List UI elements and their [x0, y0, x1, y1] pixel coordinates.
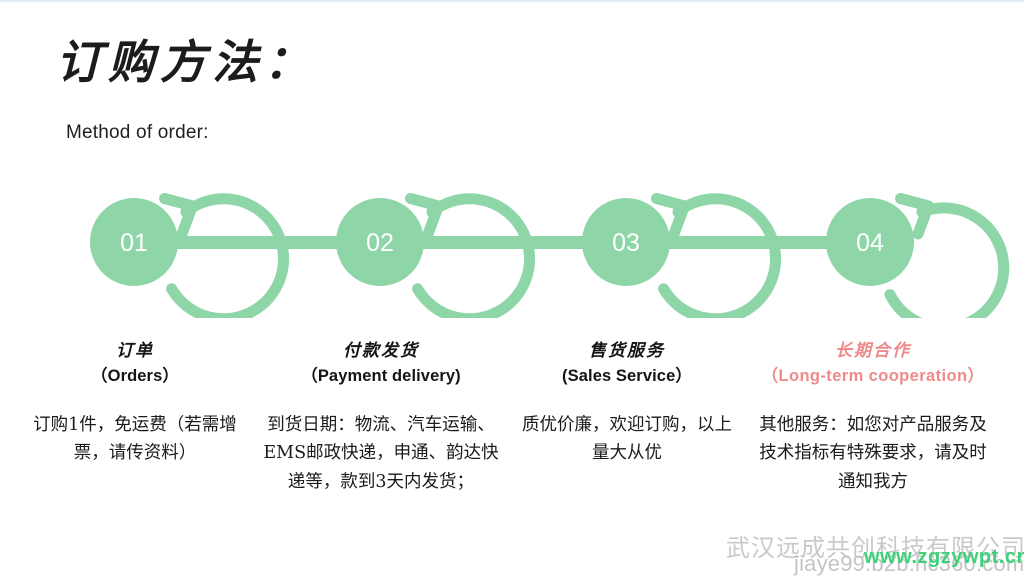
- step-node-4[interactable]: 04: [826, 198, 1004, 318]
- top-edge-line: [0, 0, 1024, 2]
- circular-arrow-icon: [657, 199, 776, 319]
- step-name-en-2: （Payment delivery): [258, 365, 504, 389]
- step-name-cn-4: 长期合作: [750, 340, 996, 363]
- step-name-en-1: （Orders）: [12, 365, 258, 389]
- step-description-1: 订购1件，免运费（若需增票，请传资料）: [12, 411, 258, 468]
- step-description-2: 到货日期：物流、汽车运输、EMS邮政快递，申通、韵达快递等，款到3天内发货；: [258, 411, 504, 496]
- step-node-1[interactable]: 01: [90, 198, 284, 318]
- page-title-en: Method of order:: [66, 122, 209, 144]
- step-description-3: 质优价廉，欢迎订购，以上量大从优: [504, 411, 750, 468]
- step-number-4: 04: [856, 229, 884, 257]
- slide-canvas: 订购方法： Method of order: 01: [0, 0, 1024, 576]
- step-node-2[interactable]: 02: [336, 198, 530, 318]
- step-name-cn-1: 订单: [12, 340, 258, 363]
- step-column-4: 长期合作 （Long-term cooperation） 其他服务：如您对产品服…: [750, 340, 996, 496]
- step-name-cn-3: 售货服务: [504, 340, 750, 363]
- step-node-3[interactable]: 03: [582, 198, 776, 318]
- step-column-2: 付款发货 （Payment delivery) 到货日期：物流、汽车运输、EMS…: [258, 340, 504, 496]
- step-number-1: 01: [120, 229, 148, 257]
- step-labels: 订单 （Orders） 订购1件，免运费（若需增票，请传资料） 付款发货 （Pa…: [0, 340, 1024, 550]
- watermark-b2b-url: jiaye99.b2b.hc360.com: [794, 551, 1024, 576]
- step-number-3: 03: [612, 229, 640, 257]
- step-name-en-3: (Sales Service）: [504, 365, 750, 389]
- step-name-en-4: （Long-term cooperation）: [750, 365, 996, 389]
- circular-arrow-icon: [411, 199, 530, 319]
- process-diagram: 01 02 03 04: [0, 168, 1024, 318]
- step-column-1: 订单 （Orders） 订购1件，免运费（若需增票，请传资料）: [12, 340, 258, 468]
- connector-lines: [134, 236, 870, 249]
- step-description-4: 其他服务：如您对产品服务及技术指标有特殊要求，请及时通知我方: [750, 411, 996, 496]
- circular-arrow-icon: [165, 199, 284, 319]
- step-column-3: 售货服务 (Sales Service） 质优价廉，欢迎订购，以上量大从优: [504, 340, 750, 468]
- step-name-cn-2: 付款发货: [258, 340, 504, 363]
- page-title-cn: 订购方法：: [56, 36, 316, 89]
- step-number-2: 02: [366, 229, 394, 257]
